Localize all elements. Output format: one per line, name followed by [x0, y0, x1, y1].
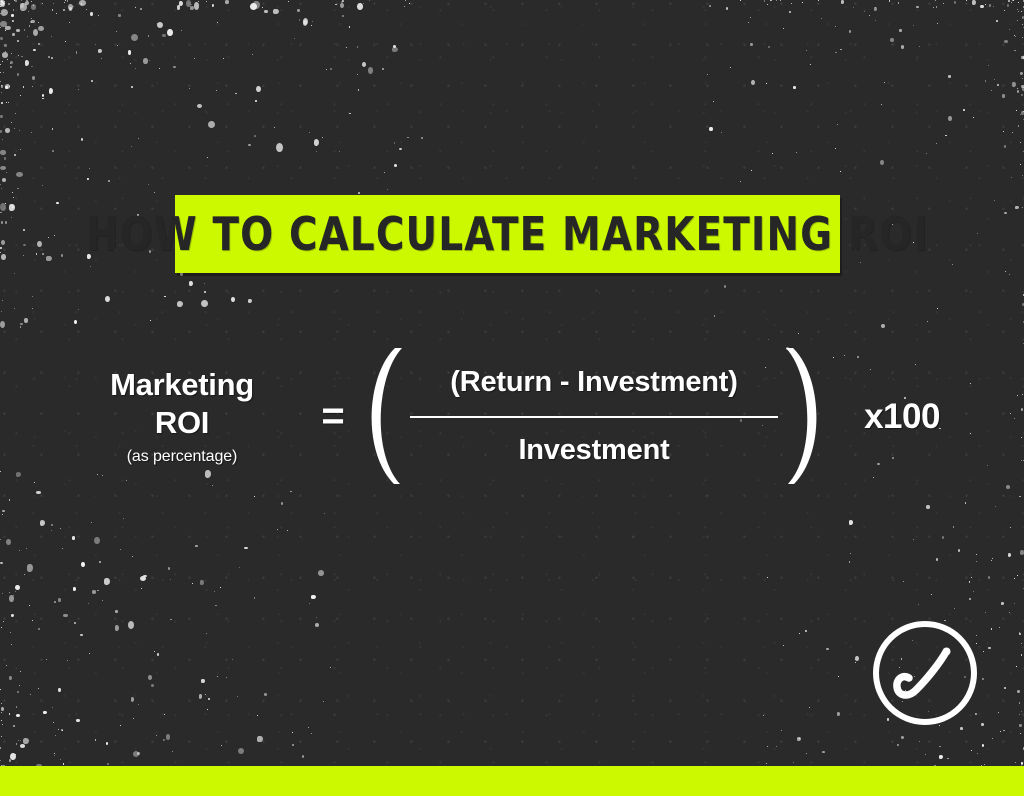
- fraction-numerator: (Return - Investment): [410, 364, 778, 400]
- close-paren-icon: [778, 346, 824, 486]
- paint-splatter-top-left: [0, 0, 430, 330]
- roi-formula: Marketing ROI (as percentage) = (Return …: [0, 336, 1024, 496]
- fraction: (Return - Investment) Investment: [410, 364, 778, 468]
- formula-left-label-note: (as percentage): [62, 448, 302, 466]
- fraction-bar: [410, 416, 778, 418]
- open-paren-icon: [364, 346, 410, 486]
- page-title: HOW TO CALCULATE MARKETING ROI: [86, 211, 929, 257]
- equals-sign: =: [302, 396, 364, 436]
- bottom-accent-bar: [0, 766, 1024, 796]
- poster-canvas: HOW TO CALCULATE MARKETING ROI Marketing…: [0, 0, 1024, 796]
- paint-splatter-bottom-left: [0, 470, 330, 796]
- title-banner: HOW TO CALCULATE MARKETING ROI: [175, 195, 840, 273]
- formula-left-label-line1: Marketing: [62, 366, 302, 404]
- fraction-denominator: Investment: [410, 432, 778, 468]
- multiplier-label: x100: [836, 399, 968, 434]
- formula-left-label-line2: ROI: [62, 404, 302, 442]
- hook-in-circle-logo: [869, 617, 981, 729]
- formula-left-label: Marketing ROI (as percentage): [62, 366, 302, 466]
